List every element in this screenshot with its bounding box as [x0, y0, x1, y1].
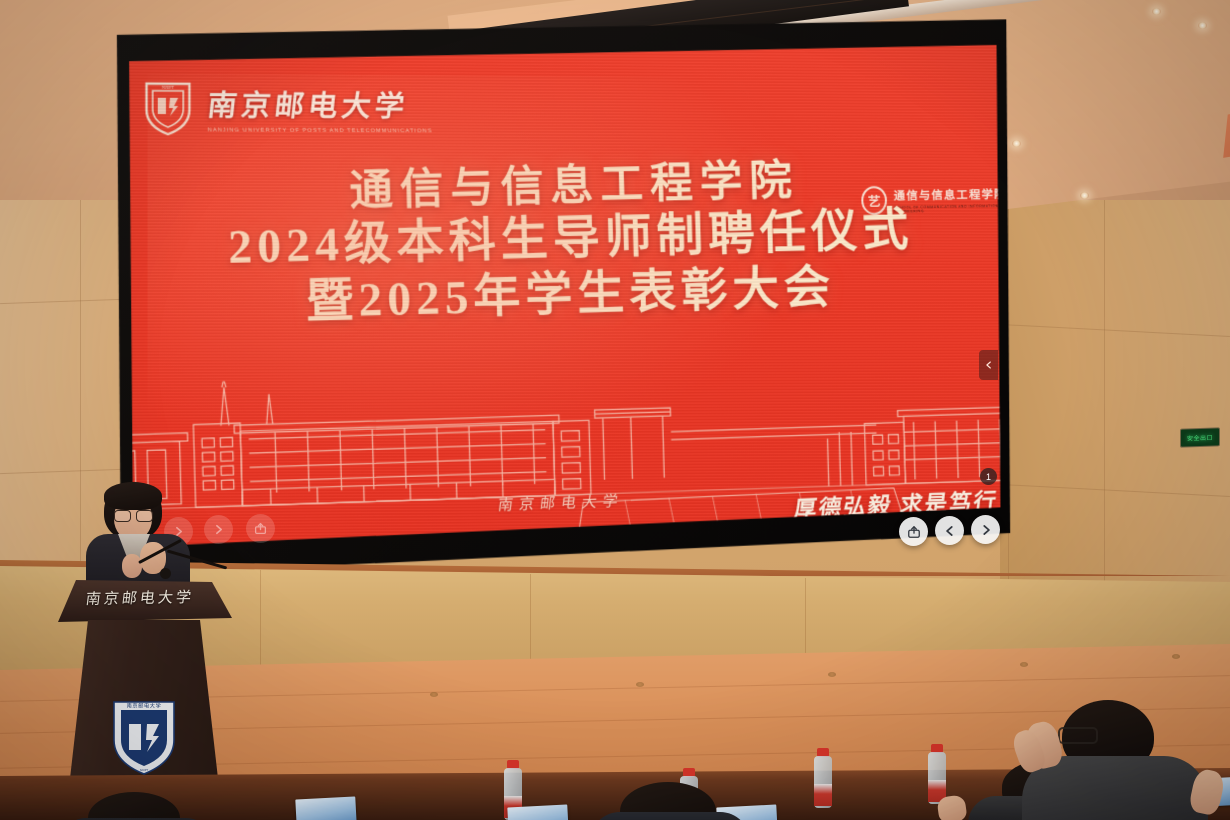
share-icon	[907, 525, 921, 539]
motto-calligraphy: 厚德弘毅 求是笃行	[792, 482, 1000, 524]
floor-fixing-bolt	[828, 672, 836, 677]
next-button[interactable]	[971, 515, 1000, 544]
svg-text:南京邮电大学: 南京邮电大学	[127, 702, 162, 710]
university-name-en: NANJING UNIVERSITY OF POSTS AND TELECOMM…	[207, 127, 432, 134]
screenshot-root: NJUPT 南京邮电大学 NANJING UNIVERSITY OF POSTS…	[0, 0, 1230, 820]
page-badge: 1	[980, 468, 997, 485]
chevron-left-icon	[984, 360, 994, 370]
water-bottle	[814, 748, 832, 808]
name-card	[507, 804, 568, 820]
share-button[interactable]	[899, 517, 928, 546]
ceiling-downlight	[1152, 8, 1161, 15]
name-card	[295, 796, 356, 820]
bottle-body	[814, 756, 832, 808]
exit-sign-text: 安全出口	[1187, 433, 1213, 443]
audience-shoulders	[590, 812, 750, 820]
edge-collapse-tab[interactable]	[979, 350, 998, 380]
led-screen-bezel: NJUPT 南京邮电大学 NANJING UNIVERSITY OF POSTS…	[107, 12, 1014, 575]
chevron-right-icon	[979, 523, 993, 537]
speaker-fringe	[104, 482, 162, 510]
audience-glasses-icon	[1058, 727, 1098, 744]
campus-caption-calligraphy: 南京邮电大学	[497, 490, 625, 515]
ceiling-downlight	[1198, 22, 1207, 29]
chevron-right-icon	[212, 523, 225, 536]
microphone-icon	[160, 568, 171, 579]
bottle-label	[814, 784, 832, 806]
floor-fixing-bolt	[430, 692, 438, 697]
speaker-person	[78, 482, 198, 592]
led-screen: NJUPT 南京邮电大学 NANJING UNIVERSITY OF POSTS…	[107, 12, 1014, 575]
university-logo-lockup: NJUPT 南京邮电大学 NANJING UNIVERSITY OF POSTS…	[142, 78, 432, 138]
emergency-exit-icon: 安全出口	[1180, 427, 1220, 447]
floor-fixing-bolt	[1172, 654, 1180, 659]
svg-text:NJUPT: NJUPT	[140, 768, 149, 772]
ghost-next-button-2[interactable]	[204, 515, 233, 544]
water-bottle	[928, 744, 946, 804]
chevron-left-icon	[943, 524, 957, 538]
ghost-share-button[interactable]	[246, 514, 275, 543]
campus-line-art	[107, 358, 1014, 562]
floor-fixing-bolt	[636, 682, 644, 687]
ceiling-downlight	[1080, 192, 1089, 199]
podium-plaque-text: 南京邮电大学	[69, 586, 212, 609]
ceiling-downlight	[1012, 140, 1021, 147]
prev-button[interactable]	[935, 516, 964, 545]
share-icon	[254, 522, 267, 535]
bottle-body	[928, 752, 946, 804]
svg-text:NJUPT: NJUPT	[162, 85, 175, 90]
university-name-block: 南京邮电大学 NANJING UNIVERSITY OF POSTS AND T…	[208, 81, 433, 133]
speaker-glasses-icon	[114, 510, 152, 520]
event-headline: 通信与信息工程学院 2024级本科生导师制聘任仪式 暨2025年学生表彰大会	[107, 152, 1014, 335]
floor-fixing-bolt	[1020, 662, 1028, 667]
university-name-cn: 南京邮电大学	[206, 81, 435, 124]
university-shield-icon: 南京邮电大学 NJUPT	[110, 696, 178, 776]
university-shield-icon: NJUPT	[142, 78, 193, 137]
speaker-hand-left	[122, 554, 142, 578]
